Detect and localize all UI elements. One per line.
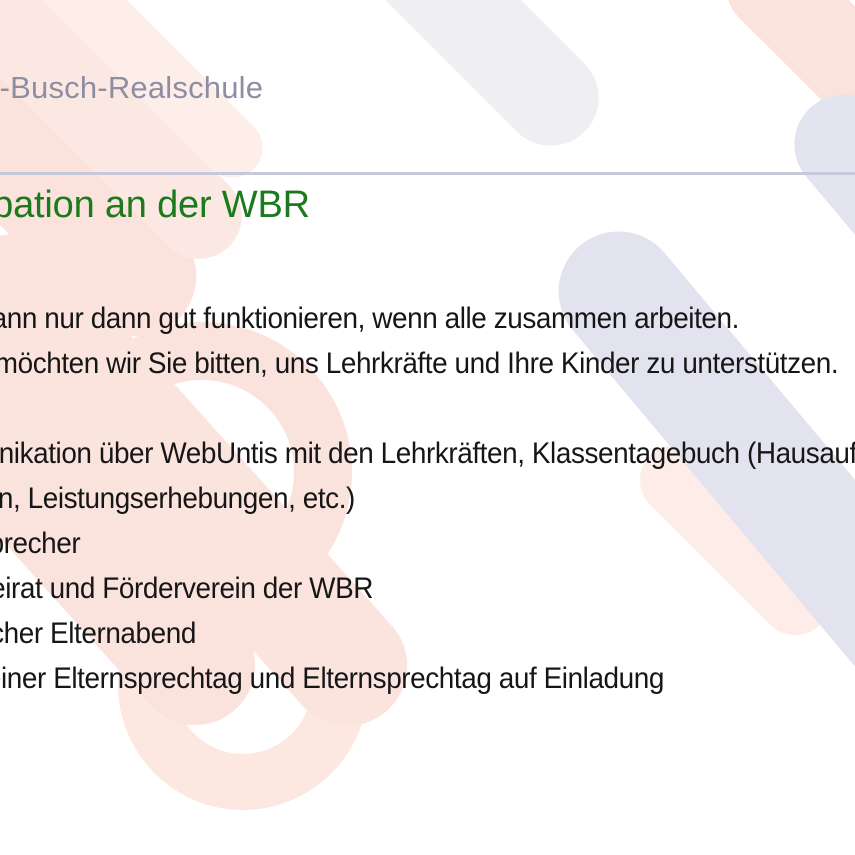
body-line: • Allgemeiner Elternsprechtag und Eltern… [0,656,855,701]
body-line: Schule kann nur dann gut funktionieren, … [0,296,855,341]
header-divider [0,172,855,175]
body-line-spacer [0,386,855,431]
body-line: • Klassischer Elternabend [0,611,855,656]
school-name-label: Wilhelm-Busch-Realschule [0,70,263,106]
slide-header: Wilhelm-Busch-Realschule [0,0,855,174]
body-line: • Elternsprecher [0,521,855,566]
body-line: Deshalb möchten wir Sie bitten, uns Lehr… [0,341,855,386]
body-line: Prüfungen, Leistungserhebungen, etc.) [0,476,855,521]
presentation-slide: Wilhelm-Busch-Realschule Partizipation a… [0,0,855,855]
slide-title: Partizipation an der WBR [0,184,310,227]
slide-body: Schule kann nur dann gut funktionieren, … [0,296,855,701]
body-line: • Kommunikation über WebUntis mit den Le… [0,431,855,476]
body-line: • Elternbeirat und Förderverein der WBR [0,566,855,611]
